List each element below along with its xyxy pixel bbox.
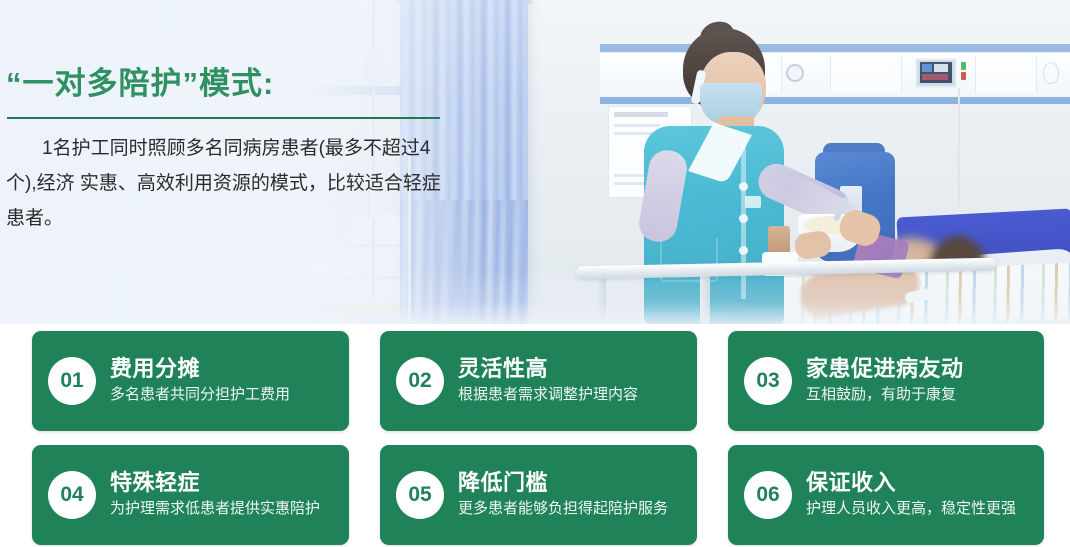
feature-card-05[interactable]: 05 降低门槛 更多患者能够负担得起陪护服务 (380, 445, 697, 545)
page-title: “一对多陪护”模式: (6, 58, 274, 103)
card-title: 保证收入 (806, 470, 1016, 496)
card-number-badge: 06 (744, 471, 792, 519)
card-subtitle: 根据患者需求调整护理内容 (458, 384, 638, 406)
card-text-block: 灵活性高 根据患者需求调整护理内容 (458, 356, 638, 406)
feature-card-04[interactable]: 04 特殊轻症 为护理需求低患者提供实惠陪护 (32, 445, 349, 545)
intro-block: “一对多陪护”模式: 1名护工同时照顾多名同病房患者(最多不超过4个),经济 实… (0, 0, 470, 324)
card-text-block: 家患促进病友动 互相鼓励，有助于康复 (806, 356, 964, 406)
feature-card-03[interactable]: 03 家患促进病友动 互相鼓励，有助于康复 (728, 331, 1044, 431)
card-subtitle: 多名患者共同分担护工费用 (110, 384, 290, 406)
card-subtitle: 更多患者能够负担得起陪护服务 (458, 498, 668, 520)
card-subtitle: 互相鼓励，有助于康复 (806, 384, 964, 406)
title-divider (7, 117, 440, 119)
card-title: 特殊轻症 (110, 470, 320, 496)
card-number-badge: 01 (48, 357, 96, 405)
feature-card-grid: 01 费用分摊 多名患者共同分担护工费用 02 灵活性高 根据患者需求调整护理内… (32, 331, 1044, 535)
card-title: 费用分摊 (110, 356, 290, 382)
card-title: 家患促进病友动 (806, 356, 964, 382)
card-text-block: 降低门槛 更多患者能够负担得起陪护服务 (458, 470, 668, 520)
card-number-badge: 03 (744, 357, 792, 405)
card-subtitle: 为护理需求低患者提供实惠陪护 (110, 498, 320, 520)
hero-section: “一对多陪护”模式: 1名护工同时照顾多名同病房患者(最多不超过4个),经济 实… (0, 0, 1070, 324)
card-number-badge: 05 (396, 471, 444, 519)
feature-card-01[interactable]: 01 费用分摊 多名患者共同分担护工费用 (32, 331, 349, 431)
card-text-block: 特殊轻症 为护理需求低患者提供实惠陪护 (110, 470, 320, 520)
card-number-badge: 04 (48, 471, 96, 519)
feature-card-06[interactable]: 06 保证收入 护理人员收入更高，稳定性更强 (728, 445, 1044, 545)
card-text-block: 保证收入 护理人员收入更高，稳定性更强 (806, 470, 1016, 520)
card-text-block: 费用分摊 多名患者共同分担护工费用 (110, 356, 290, 406)
card-title: 灵活性高 (458, 356, 638, 382)
intro-paragraph: 1名护工同时照顾多名同病房患者(最多不超过4个),经济 实惠、高效利用资源的模式… (6, 131, 452, 236)
card-subtitle: 护理人员收入更高，稳定性更强 (806, 498, 1016, 520)
card-title: 降低门槛 (458, 470, 668, 496)
card-number-badge: 02 (396, 357, 444, 405)
feature-card-02[interactable]: 02 灵活性高 根据患者需求调整护理内容 (380, 331, 697, 431)
slide-root: “一对多陪护”模式: 1名护工同时照顾多名同病房患者(最多不超过4个),经济 实… (0, 0, 1070, 547)
